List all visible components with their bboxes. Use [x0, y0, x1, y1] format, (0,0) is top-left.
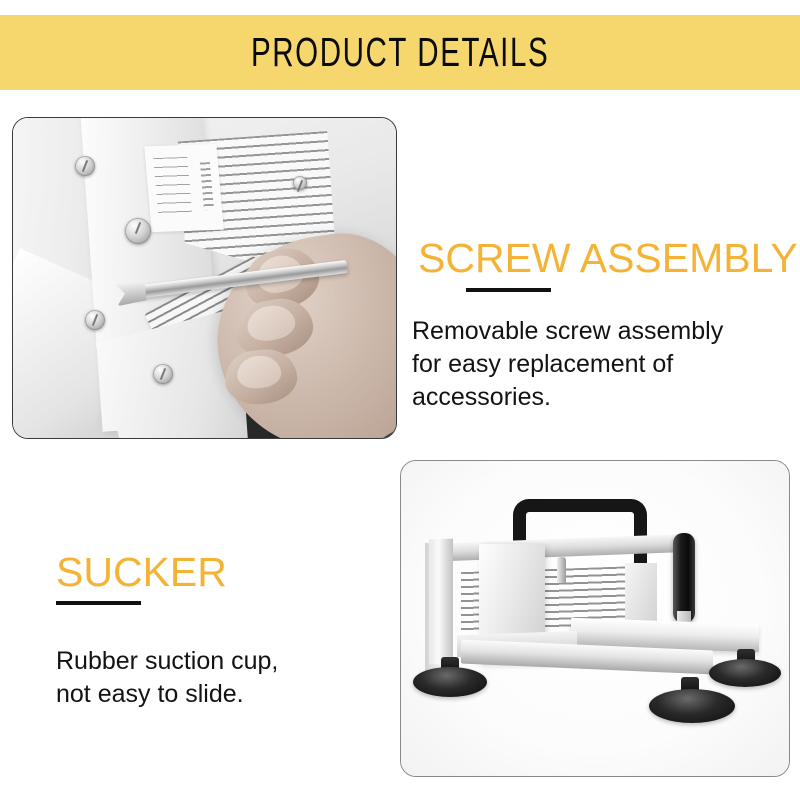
screw-head	[153, 364, 173, 384]
suction-cup	[709, 659, 781, 687]
feature-underline-rule	[56, 601, 141, 605]
feature-title-sucker: SUCKER	[56, 552, 227, 593]
back-guard-plate	[625, 563, 657, 621]
feature-title-screw-assembly: SCREW ASSEMBLY	[418, 238, 798, 279]
screw-head	[75, 156, 95, 176]
push-handle	[673, 533, 695, 623]
feature-body-sucker: Rubber suction cup, not easy to slide.	[56, 645, 386, 711]
product-details-banner: PRODUCT DETAILS	[0, 15, 800, 90]
photo-screw-assembly-closeup	[12, 117, 397, 439]
screw-head	[85, 310, 105, 330]
suction-cup	[413, 667, 487, 697]
photo-screw-assembly-artwork	[13, 118, 396, 438]
photo-slicer-artwork	[401, 461, 789, 776]
page-title: PRODUCT DETAILS	[251, 32, 549, 73]
center-pin	[557, 557, 566, 583]
screw-head	[293, 176, 307, 190]
screw-head	[125, 218, 151, 244]
photo-slicer-with-suction-cups	[400, 460, 790, 777]
feature-body-screw-assembly: Removable screw assembly for easy replac…	[412, 315, 800, 414]
label-vertical-text	[200, 162, 214, 210]
suction-cup	[649, 689, 735, 723]
feature-underline-rule	[466, 288, 551, 292]
left-support-post	[429, 539, 453, 665]
product-sticker-label	[144, 144, 224, 232]
label-text-lines	[153, 157, 192, 220]
